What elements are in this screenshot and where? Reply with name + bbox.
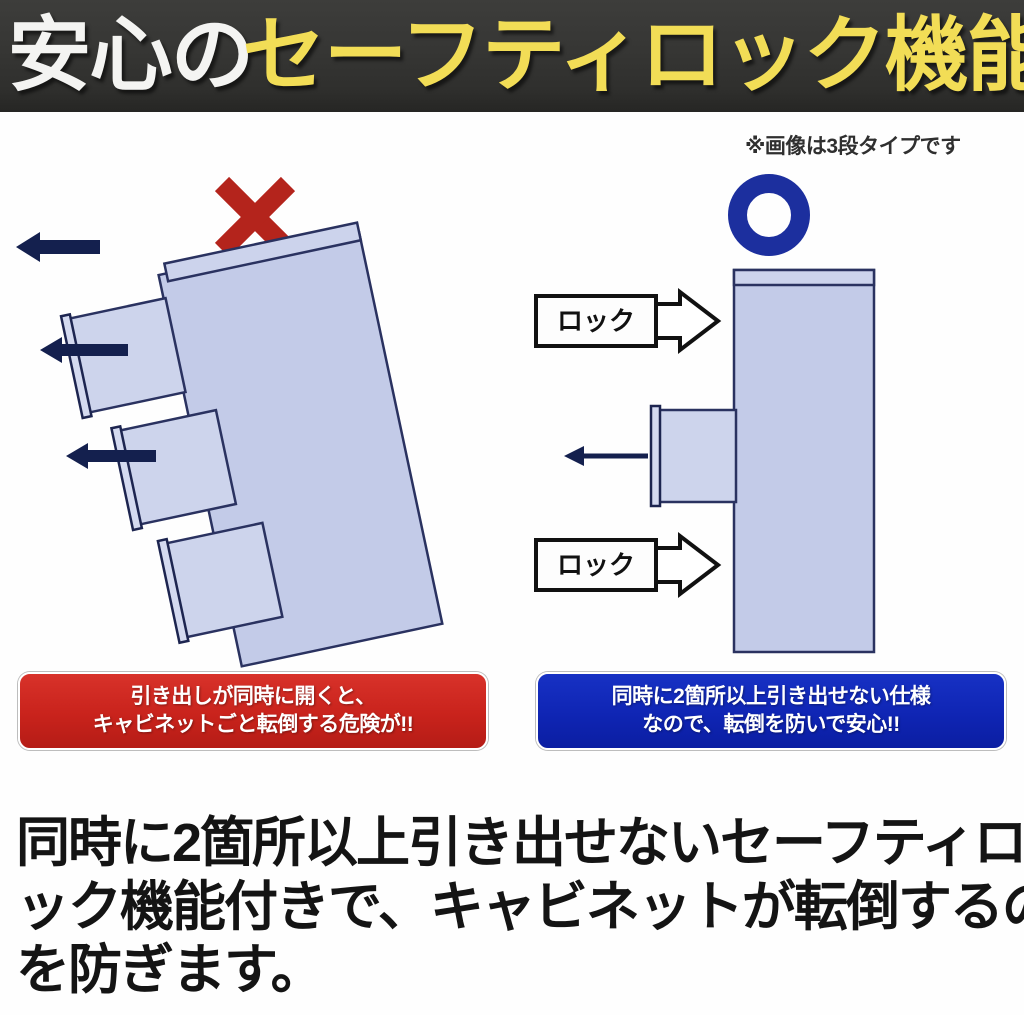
body-line-1: 同時に2箇所以上引き出せないセーフティロ xyxy=(16,812,1016,876)
drawer-open-1 xyxy=(61,294,186,418)
lock-label-top: ロック xyxy=(536,292,718,350)
body-line-2: ック機能付きで、キャビネットが転倒するの xyxy=(16,876,1016,940)
drawer-open xyxy=(651,406,736,506)
header-title-yellow: セーフティロック機能 xyxy=(242,15,1024,97)
caption-danger-line1: 引き出しが同時に開くと、 xyxy=(93,683,414,711)
header-title: 安心の セーフティロック機能 xyxy=(0,0,1024,112)
unsafe-cabinet-drawing xyxy=(0,112,512,672)
caption-safe-line2: なので、転倒を防いで安心!! xyxy=(612,711,931,739)
caption-danger: 引き出しが同時に開くと、 キャビネットごと転倒する危険が!! xyxy=(18,672,488,750)
lock-label-bottom-text: ロック xyxy=(557,550,635,580)
safe-cabinet-drawing: ロック ロック xyxy=(512,112,1024,672)
caption-danger-line2: キャビネットごと転倒する危険が!! xyxy=(93,711,414,739)
illustration-unsafe xyxy=(0,112,512,672)
pull-arrow-single xyxy=(564,446,648,466)
lock-label-bottom: ロック xyxy=(536,536,718,594)
content-area: ※画像は3段タイプです xyxy=(0,112,1024,1015)
body-line-3: を防ぎます。 xyxy=(16,939,1016,1003)
illustration-safe: ロック ロック xyxy=(512,112,1024,672)
header-title-white: 安心の xyxy=(8,15,253,97)
body-description: 同時に2箇所以上引き出せないセーフティロ ック機能付きで、キャビネットが転倒する… xyxy=(16,812,1016,1003)
pull-arrow-1 xyxy=(16,232,100,262)
lock-label-top-text: ロック xyxy=(557,306,635,336)
header-banner: 安心の セーフティロック機能 xyxy=(0,0,1024,112)
caption-safe-line1: 同時に2箇所以上引き出せない仕様 xyxy=(612,683,931,711)
caption-safe: 同時に2箇所以上引き出せない仕様 なので、転倒を防いで安心!! xyxy=(536,672,1006,750)
